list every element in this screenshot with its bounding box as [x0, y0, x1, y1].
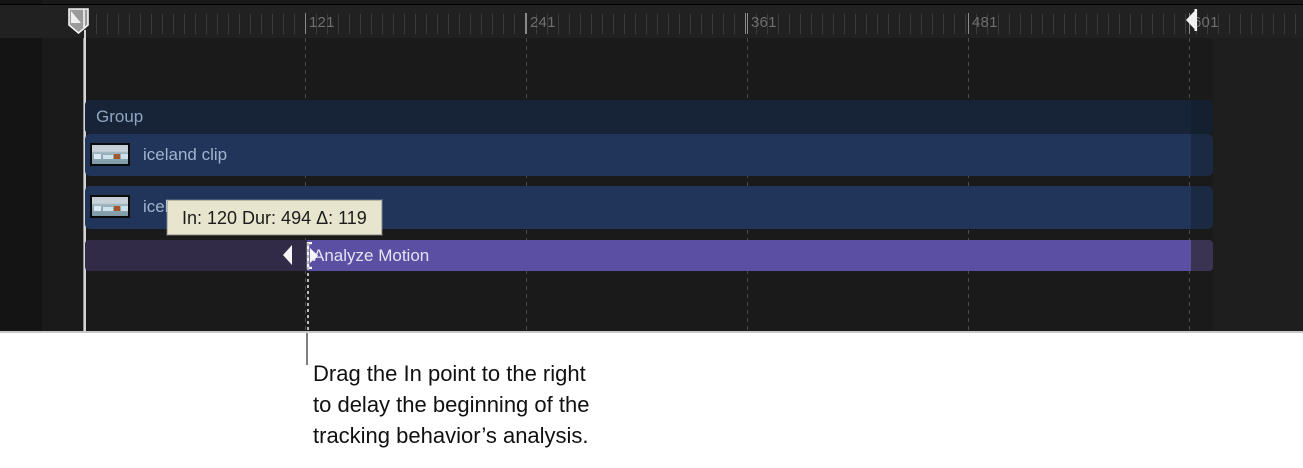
ruler-minor-tick — [514, 14, 515, 34]
ruler-minor-tick — [943, 14, 944, 34]
ruler-minor-tick — [657, 14, 658, 34]
ruler-tick-label: 361 — [751, 14, 777, 32]
ruler-minor-tick — [1119, 14, 1120, 34]
ruler-minor-tick — [338, 14, 339, 34]
ruler-minor-tick — [1020, 14, 1021, 34]
ruler-minor-tick — [624, 14, 625, 34]
timeline-empty-area-right — [1213, 12, 1303, 333]
clip-bar-tail-2 — [1191, 186, 1213, 229]
ruler-minor-tick — [250, 14, 251, 34]
ruler-minor-tick — [415, 14, 416, 34]
analyze-motion-bar-tail — [1191, 240, 1213, 271]
ruler-minor-tick — [1295, 14, 1296, 34]
track-row-group[interactable]: Group — [85, 100, 1213, 134]
ruler-minor-tick — [349, 14, 350, 34]
timeline-panel: 121241361481601 Group — [0, 0, 1303, 333]
ruler-minor-tick — [1130, 14, 1131, 34]
track-row-analyze-motion[interactable]: Analyze Motion — [85, 240, 1213, 271]
group-row-label: Group — [96, 107, 143, 127]
ruler-minor-tick — [404, 14, 405, 34]
track-row-iceland-clip-1[interactable]: iceland clip — [85, 134, 1213, 176]
in-point-drag-guide — [307, 243, 309, 333]
ruler-minor-tick — [140, 14, 141, 34]
clip-label-1: iceland clip — [143, 145, 227, 165]
ruler-minor-tick — [184, 14, 185, 34]
ruler-minor-tick — [118, 14, 119, 34]
ruler-minor-tick — [800, 14, 801, 34]
ruler-minor-tick — [1163, 14, 1164, 34]
ruler-minor-tick — [1152, 14, 1153, 34]
ruler-minor-tick — [393, 14, 394, 34]
drag-info-tooltip: In: 120 Dur: 494 Δ: 119 — [167, 200, 382, 235]
ruler-minor-tick — [1251, 14, 1252, 34]
ruler-minor-tick — [437, 14, 438, 34]
ruler-minor-tick — [261, 14, 262, 34]
ruler-minor-tick — [866, 14, 867, 34]
ruler-minor-tick — [492, 14, 493, 34]
ruler-minor-tick — [448, 14, 449, 34]
playhead-flag-icon[interactable] — [68, 8, 90, 34]
ruler-minor-tick — [96, 14, 97, 34]
ruler-minor-tick — [459, 14, 460, 34]
group-bar-body[interactable] — [85, 100, 1191, 134]
ruler-tick-label: 481 — [972, 14, 998, 32]
ruler-minor-tick — [228, 14, 229, 34]
ruler-minor-tick — [855, 14, 856, 34]
ruler-minor-tick — [613, 14, 614, 34]
ruler-minor-tick — [1086, 14, 1087, 34]
ruler-major-tick — [745, 13, 746, 34]
callout-annotation-text: Drag the In point to the right to delay … — [313, 358, 873, 451]
ruler-minor-tick — [1262, 14, 1263, 34]
in-point-handle-icon[interactable] — [281, 243, 294, 267]
ruler-minor-tick — [965, 14, 966, 34]
timeline-left-gutter — [0, 0, 42, 333]
ruler-minor-tick — [888, 14, 889, 34]
ruler-major-tick — [526, 13, 527, 34]
ruler-minor-tick — [899, 14, 900, 34]
ruler-minor-tick — [1141, 14, 1142, 34]
ruler-minor-tick — [1108, 14, 1109, 34]
ruler-minor-tick — [734, 14, 735, 34]
ruler-minor-tick — [272, 14, 273, 34]
ruler-minor-tick — [558, 14, 559, 34]
ruler-minor-tick — [723, 14, 724, 34]
ruler-minor-tick — [778, 14, 779, 34]
ruler-minor-tick — [283, 14, 284, 34]
timeline-ruler[interactable]: 121241361481601 — [0, 4, 1303, 38]
ruler-minor-tick — [426, 14, 427, 34]
callout-line-2: to delay the beginning of the — [313, 389, 873, 420]
ruler-minor-tick — [1174, 14, 1175, 34]
ruler-minor-tick — [1273, 14, 1274, 34]
ruler-minor-tick — [877, 14, 878, 34]
drag-info-tooltip-text: In: 120 Dur: 494 Δ: 119 — [182, 208, 367, 228]
ruler-minor-tick — [690, 14, 691, 34]
ruler-minor-tick — [844, 14, 845, 34]
video-thumbnail-icon — [90, 195, 130, 218]
ruler-minor-tick — [239, 14, 240, 34]
ruler-top-border — [0, 4, 1303, 5]
ruler-minor-tick — [382, 14, 383, 34]
ruler-minor-tick — [635, 14, 636, 34]
ruler-minor-tick — [1042, 14, 1043, 34]
ruler-minor-tick — [503, 14, 504, 34]
ruler-minor-tick — [822, 14, 823, 34]
ruler-minor-tick — [602, 14, 603, 34]
callout-leader-line — [306, 333, 308, 365]
ruler-minor-tick — [646, 14, 647, 34]
ruler-minor-tick — [910, 14, 911, 34]
ruler-minor-tick — [591, 14, 592, 34]
ruler-major-tick — [305, 13, 306, 34]
ruler-minor-tick — [162, 14, 163, 34]
clip-bar-tail-1 — [1191, 134, 1213, 176]
timeline-track-divider — [83, 38, 84, 333]
ruler-minor-tick — [371, 14, 372, 34]
video-thumbnail-icon — [90, 143, 130, 166]
ruler-minor-tick — [932, 14, 933, 34]
ruler-minor-tick — [580, 14, 581, 34]
analyze-motion-bar[interactable] — [307, 240, 1191, 271]
ruler-minor-tick — [360, 14, 361, 34]
ruler-minor-tick — [998, 14, 999, 34]
timeline-track-area[interactable]: Group iceland clip iceland clip — [85, 38, 1213, 333]
ruler-minor-tick — [470, 14, 471, 34]
clip-bar-body-1[interactable] — [85, 134, 1191, 176]
ruler-minor-tick — [107, 14, 108, 34]
group-bar-tail — [1191, 100, 1213, 134]
ruler-minor-tick — [195, 14, 196, 34]
ruler-minor-tick — [668, 14, 669, 34]
ruler-minor-tick — [173, 14, 174, 34]
ruler-minor-tick — [833, 14, 834, 34]
ruler-minor-tick — [679, 14, 680, 34]
ruler-major-tick — [968, 13, 969, 34]
callout-line-3: tracking behavior’s analysis. — [313, 420, 873, 451]
callout-line-1: Drag the In point to the right — [313, 358, 873, 389]
ruler-minor-tick — [1064, 14, 1065, 34]
ruler-minor-tick — [569, 14, 570, 34]
out-point-marker-icon[interactable] — [1185, 9, 1199, 31]
ruler-minor-tick — [701, 14, 702, 34]
ruler-minor-tick — [1229, 14, 1230, 34]
ruler-major-tick — [747, 13, 748, 34]
ruler-minor-tick — [1097, 14, 1098, 34]
ruler-minor-tick — [1053, 14, 1054, 34]
ruler-minor-tick — [217, 14, 218, 34]
ruler-minor-tick — [1075, 14, 1076, 34]
timeline-bottom-border — [0, 331, 1303, 333]
ruler-minor-tick — [294, 14, 295, 34]
ruler-tick-label: 241 — [530, 14, 556, 32]
ruler-minor-tick — [481, 14, 482, 34]
ruler-minor-tick — [1240, 14, 1241, 34]
ruler-minor-tick — [1009, 14, 1010, 34]
ruler-minor-tick — [789, 14, 790, 34]
ruler-minor-tick — [151, 14, 152, 34]
ruler-minor-tick — [712, 14, 713, 34]
ruler-minor-tick — [1031, 14, 1032, 34]
ruler-minor-tick — [1284, 14, 1285, 34]
ruler-tick-label: 121 — [309, 14, 335, 32]
analyze-motion-label: Analyze Motion — [313, 245, 429, 266]
ruler-minor-tick — [921, 14, 922, 34]
ruler-minor-tick — [129, 14, 130, 34]
ruler-minor-tick — [206, 14, 207, 34]
ruler-minor-tick — [954, 14, 955, 34]
ruler-minor-tick — [811, 14, 812, 34]
